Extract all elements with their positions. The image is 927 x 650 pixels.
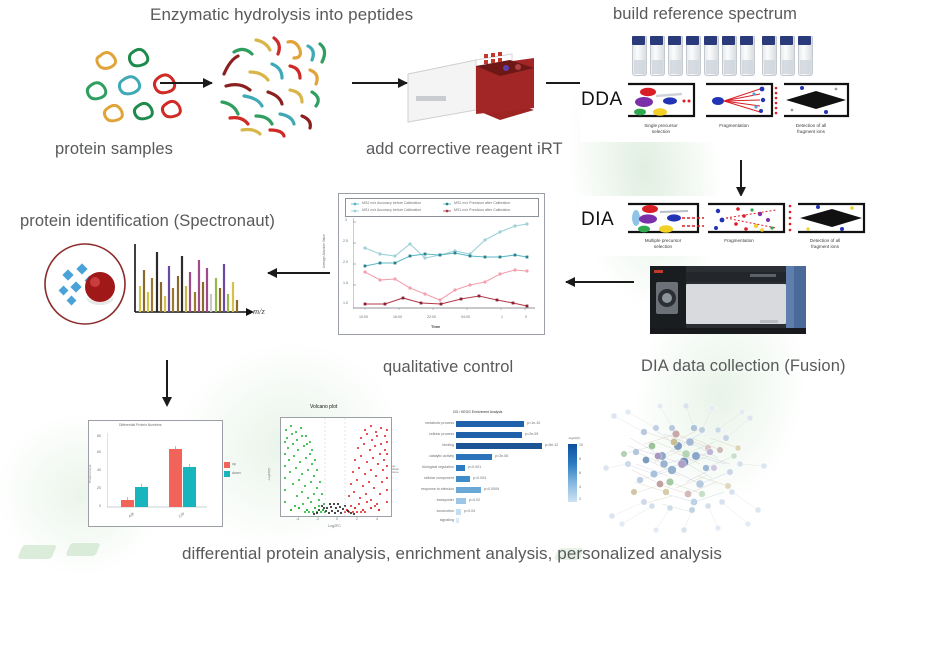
qc-yaxis-label: Average Absolute Value — [323, 234, 326, 268]
vial — [632, 36, 647, 76]
qc-legend-item-0: MS2 m/z Accuracy before Calibration — [362, 202, 421, 206]
qc-ytick-0: 3 — [345, 219, 347, 223]
dia-stage2-label: Fragmentation — [706, 238, 772, 244]
bar-ytick-2: 40 — [97, 469, 101, 473]
vial — [704, 36, 719, 76]
enrichment-bar — [456, 498, 466, 504]
enrichment-colorbar-label: -log10(P) — [568, 437, 580, 440]
qc-chart-plot — [353, 218, 537, 312]
qc-xtick-0: 10:00 — [359, 316, 368, 320]
vial-rack — [632, 36, 847, 78]
sample-prep-instrument — [406, 52, 536, 130]
workflow-figure: Enzymatic hydrolysis into peptides — [0, 0, 927, 577]
enrichment-cat-label: biological regulation — [408, 466, 454, 470]
enrichment-cat-label: transporter — [408, 499, 454, 503]
qc-xtick-3: 04:00 — [461, 316, 470, 320]
enrichment-value-label: p=5e-12 — [545, 444, 558, 448]
bar-legend-swatch-down — [224, 471, 230, 477]
enrichment-bar — [456, 432, 522, 438]
qc-xaxis-label: Time — [431, 325, 440, 329]
dia-stage3-label: Detection of all fragment ions — [792, 238, 858, 249]
arrow-fusion-to-qc — [566, 281, 634, 283]
bar-chart-plot — [107, 433, 207, 511]
enrichment-value-label: p=0.04 — [464, 510, 475, 514]
enrichment-bar — [456, 476, 470, 482]
differential-protein-bar-chart: Differential Protein Numbers 0 20 40 60 … — [88, 420, 223, 527]
vial — [722, 36, 737, 76]
enrichment-cat-label: locomotion — [408, 510, 454, 514]
enrichment-bar — [456, 518, 459, 523]
dda-stage2-label: Fragmentation — [704, 123, 764, 129]
volcano-plot: Volcano plot — [266, 405, 398, 533]
peptides-illustration — [216, 30, 336, 140]
enrichment-colorbar-gradient — [568, 444, 577, 502]
enrichment-value-label: p=2e-09 — [525, 433, 538, 437]
enrichment-value-label: p=0.02 — [469, 499, 480, 503]
bar-xtick-0: A/B — [129, 513, 136, 519]
qc-chart-legend: MS2 m/z Accuracy before Calibration MS1 … — [345, 198, 539, 217]
bar-chart-title: Differential Protein Numbers — [119, 424, 162, 427]
enrichment-colorbar-tick: 4 — [579, 486, 581, 490]
volcano-legend: up down none — [392, 465, 399, 474]
enrichment-colorbar-tick: 2 — [579, 498, 581, 502]
arrow-samples-to-peptides — [160, 82, 212, 84]
label-build-reference-spectrum: build reference spectrum — [613, 5, 797, 24]
dda-stage1-line2: selection — [628, 129, 694, 135]
vial — [650, 36, 665, 76]
enrichment-cat-label: response to stimulus — [408, 488, 454, 492]
label-dia-data-collection: DIA data collection (Fusion) — [641, 357, 846, 376]
enrichment-title: GO / KEGG Enrichment Analysis — [453, 411, 502, 414]
enrichment-value-label: p=3e-06 — [495, 455, 508, 459]
qc-xtick-2: 22:00 — [427, 316, 436, 320]
caption-bottom-analysis: differential protein analysis, enrichmen… — [182, 544, 722, 564]
dia-stage3-line2: fragment ions — [792, 244, 858, 250]
volcano-xaxis-label: Log2FC — [328, 525, 341, 529]
spectronaut-logo — [42, 243, 128, 325]
arrow-qc-to-identification — [268, 272, 330, 274]
vial — [740, 36, 755, 76]
enrichment-bars: metabolic process p=1e-10 cellular proce… — [408, 420, 568, 520]
enrichment-colorbar-tick: 8 — [579, 458, 581, 462]
volcano-xtick-3: 2 — [356, 518, 358, 522]
vial — [762, 36, 777, 76]
enrichment-cat-label: catalytic activity — [408, 455, 454, 459]
dda-panel: DDA — [580, 32, 850, 142]
qc-ytick-3: 1.5 — [343, 282, 348, 286]
arrow-identification-to-analysis — [166, 360, 168, 398]
vial — [780, 36, 795, 76]
volcano-xtick-1: -2 — [316, 518, 319, 522]
vial — [798, 36, 813, 76]
dda-label: DDA — [581, 89, 623, 111]
enrichment-value-label: p=1e-10 — [527, 422, 540, 426]
protein-samples-illustration — [78, 42, 196, 130]
bar-legend-label-up: up — [232, 463, 236, 467]
bar-ytick-1: 20 — [97, 487, 101, 491]
label-corrective-reagent: add corrective reagent iRT — [366, 140, 563, 159]
qc-xtick-4: 1 — [501, 316, 503, 320]
enrichment-cat-label: cellular component — [408, 477, 454, 481]
vial — [668, 36, 683, 76]
dda-stage1-label: Single precursor selection — [628, 123, 694, 134]
bar-legend-label-down: down — [232, 472, 241, 476]
enrichment-bar — [456, 487, 481, 493]
enrichment-bar — [456, 509, 461, 515]
bar-ytick-4: 80 — [97, 435, 101, 439]
volcano-xtick-4: 4 — [376, 518, 378, 522]
qc-legend-item-2: MS2 m/z Precision after Calibration — [454, 202, 510, 206]
qc-legend-item-1: MS1 m/z Accuracy before Calibration — [362, 209, 421, 213]
dia-stage1-line2: selection — [626, 244, 700, 250]
qc-xtick-1: 16:00 — [393, 316, 402, 320]
title-enzymatic-hydrolysis: Enzymatic hydrolysis into peptides — [150, 5, 413, 25]
qc-ytick-4: 1.0 — [343, 302, 348, 306]
arrow-dda-to-dia — [740, 160, 742, 188]
arrow-peptides-to-instrument — [352, 82, 407, 84]
qc-chart: MS2 m/z Accuracy before Calibration MS1 … — [338, 193, 545, 335]
volcano-legend-item-none: none — [392, 471, 399, 474]
bar-ytick-3: 60 — [97, 451, 101, 455]
dia-stages-graphic — [626, 202, 866, 238]
qc-ytick-2: 2.0 — [343, 261, 348, 265]
enrichment-bar — [456, 421, 524, 427]
volcano-title: Volcano plot — [310, 405, 337, 410]
qc-xtick-5: 0 — [525, 316, 527, 320]
mass-spectrometer-fusion — [650, 258, 806, 338]
enrichment-bar — [456, 465, 465, 471]
label-qualitative-control: qualitative control — [383, 358, 513, 377]
bar-ytick-0: 0 — [99, 505, 101, 509]
dda-stage3-line2: fragment ions — [778, 129, 844, 135]
enrichment-cat-label: metabolic process — [408, 422, 454, 426]
watermark-dot — [17, 545, 57, 559]
label-protein-samples: protein samples — [55, 140, 173, 159]
bar-chart-legend: up down — [224, 462, 240, 480]
enrichment-cat-label: binding — [408, 444, 454, 448]
enrichment-cat-label: cellular process — [408, 433, 454, 437]
ppi-network-diagram — [600, 398, 772, 538]
enrichment-bar — [456, 454, 492, 460]
enrichment-colorbar-tick: 10 — [579, 444, 583, 448]
enrichment-value-label: p=0.0009 — [484, 488, 499, 492]
enrichment-value-label: p=0.004 — [473, 477, 486, 481]
bar-legend-swatch-up — [224, 462, 230, 468]
enrichment-colorbar-tick: 6 — [579, 472, 581, 476]
volcano-xtick-2: 0 — [336, 518, 338, 522]
enrichment-bar — [456, 443, 542, 449]
dia-panel: DIA — [580, 196, 860, 256]
dda-stages-graphic — [626, 82, 850, 122]
label-protein-identification: protein identification (Spectronaut) — [20, 212, 275, 231]
volcano-xtick-0: -4 — [296, 518, 299, 522]
mass-spectrum-graphic — [132, 242, 262, 322]
enrichment-cat-label: signaling — [408, 519, 454, 523]
qc-ytick-1: 2.5 — [343, 240, 348, 244]
spectrum-axis-label: m/z — [253, 306, 265, 316]
enrichment-colorbar: -log10(P) 10 8 6 4 2 — [568, 444, 590, 506]
bar-yaxis-label: Protein Count — [89, 465, 92, 483]
enrichment-value-label: p=0.001 — [468, 466, 481, 470]
dia-stage1-label: Multiple precursor selection — [626, 238, 700, 249]
vial — [686, 36, 701, 76]
volcano-yaxis-label: -Log10(P) — [268, 468, 271, 481]
dda-stage3-label: Detection of all fragment ions — [778, 123, 844, 134]
bar-xtick-1: C/D — [179, 512, 186, 519]
volcano-frame — [280, 417, 392, 517]
qc-legend-item-3: MS1 m/z Precision after Calibration — [454, 209, 510, 213]
watermark-dot — [65, 543, 100, 556]
dia-label: DIA — [581, 209, 614, 231]
enrichment-bar-chart: GO / KEGG Enrichment Analysis metabolic … — [408, 410, 593, 525]
